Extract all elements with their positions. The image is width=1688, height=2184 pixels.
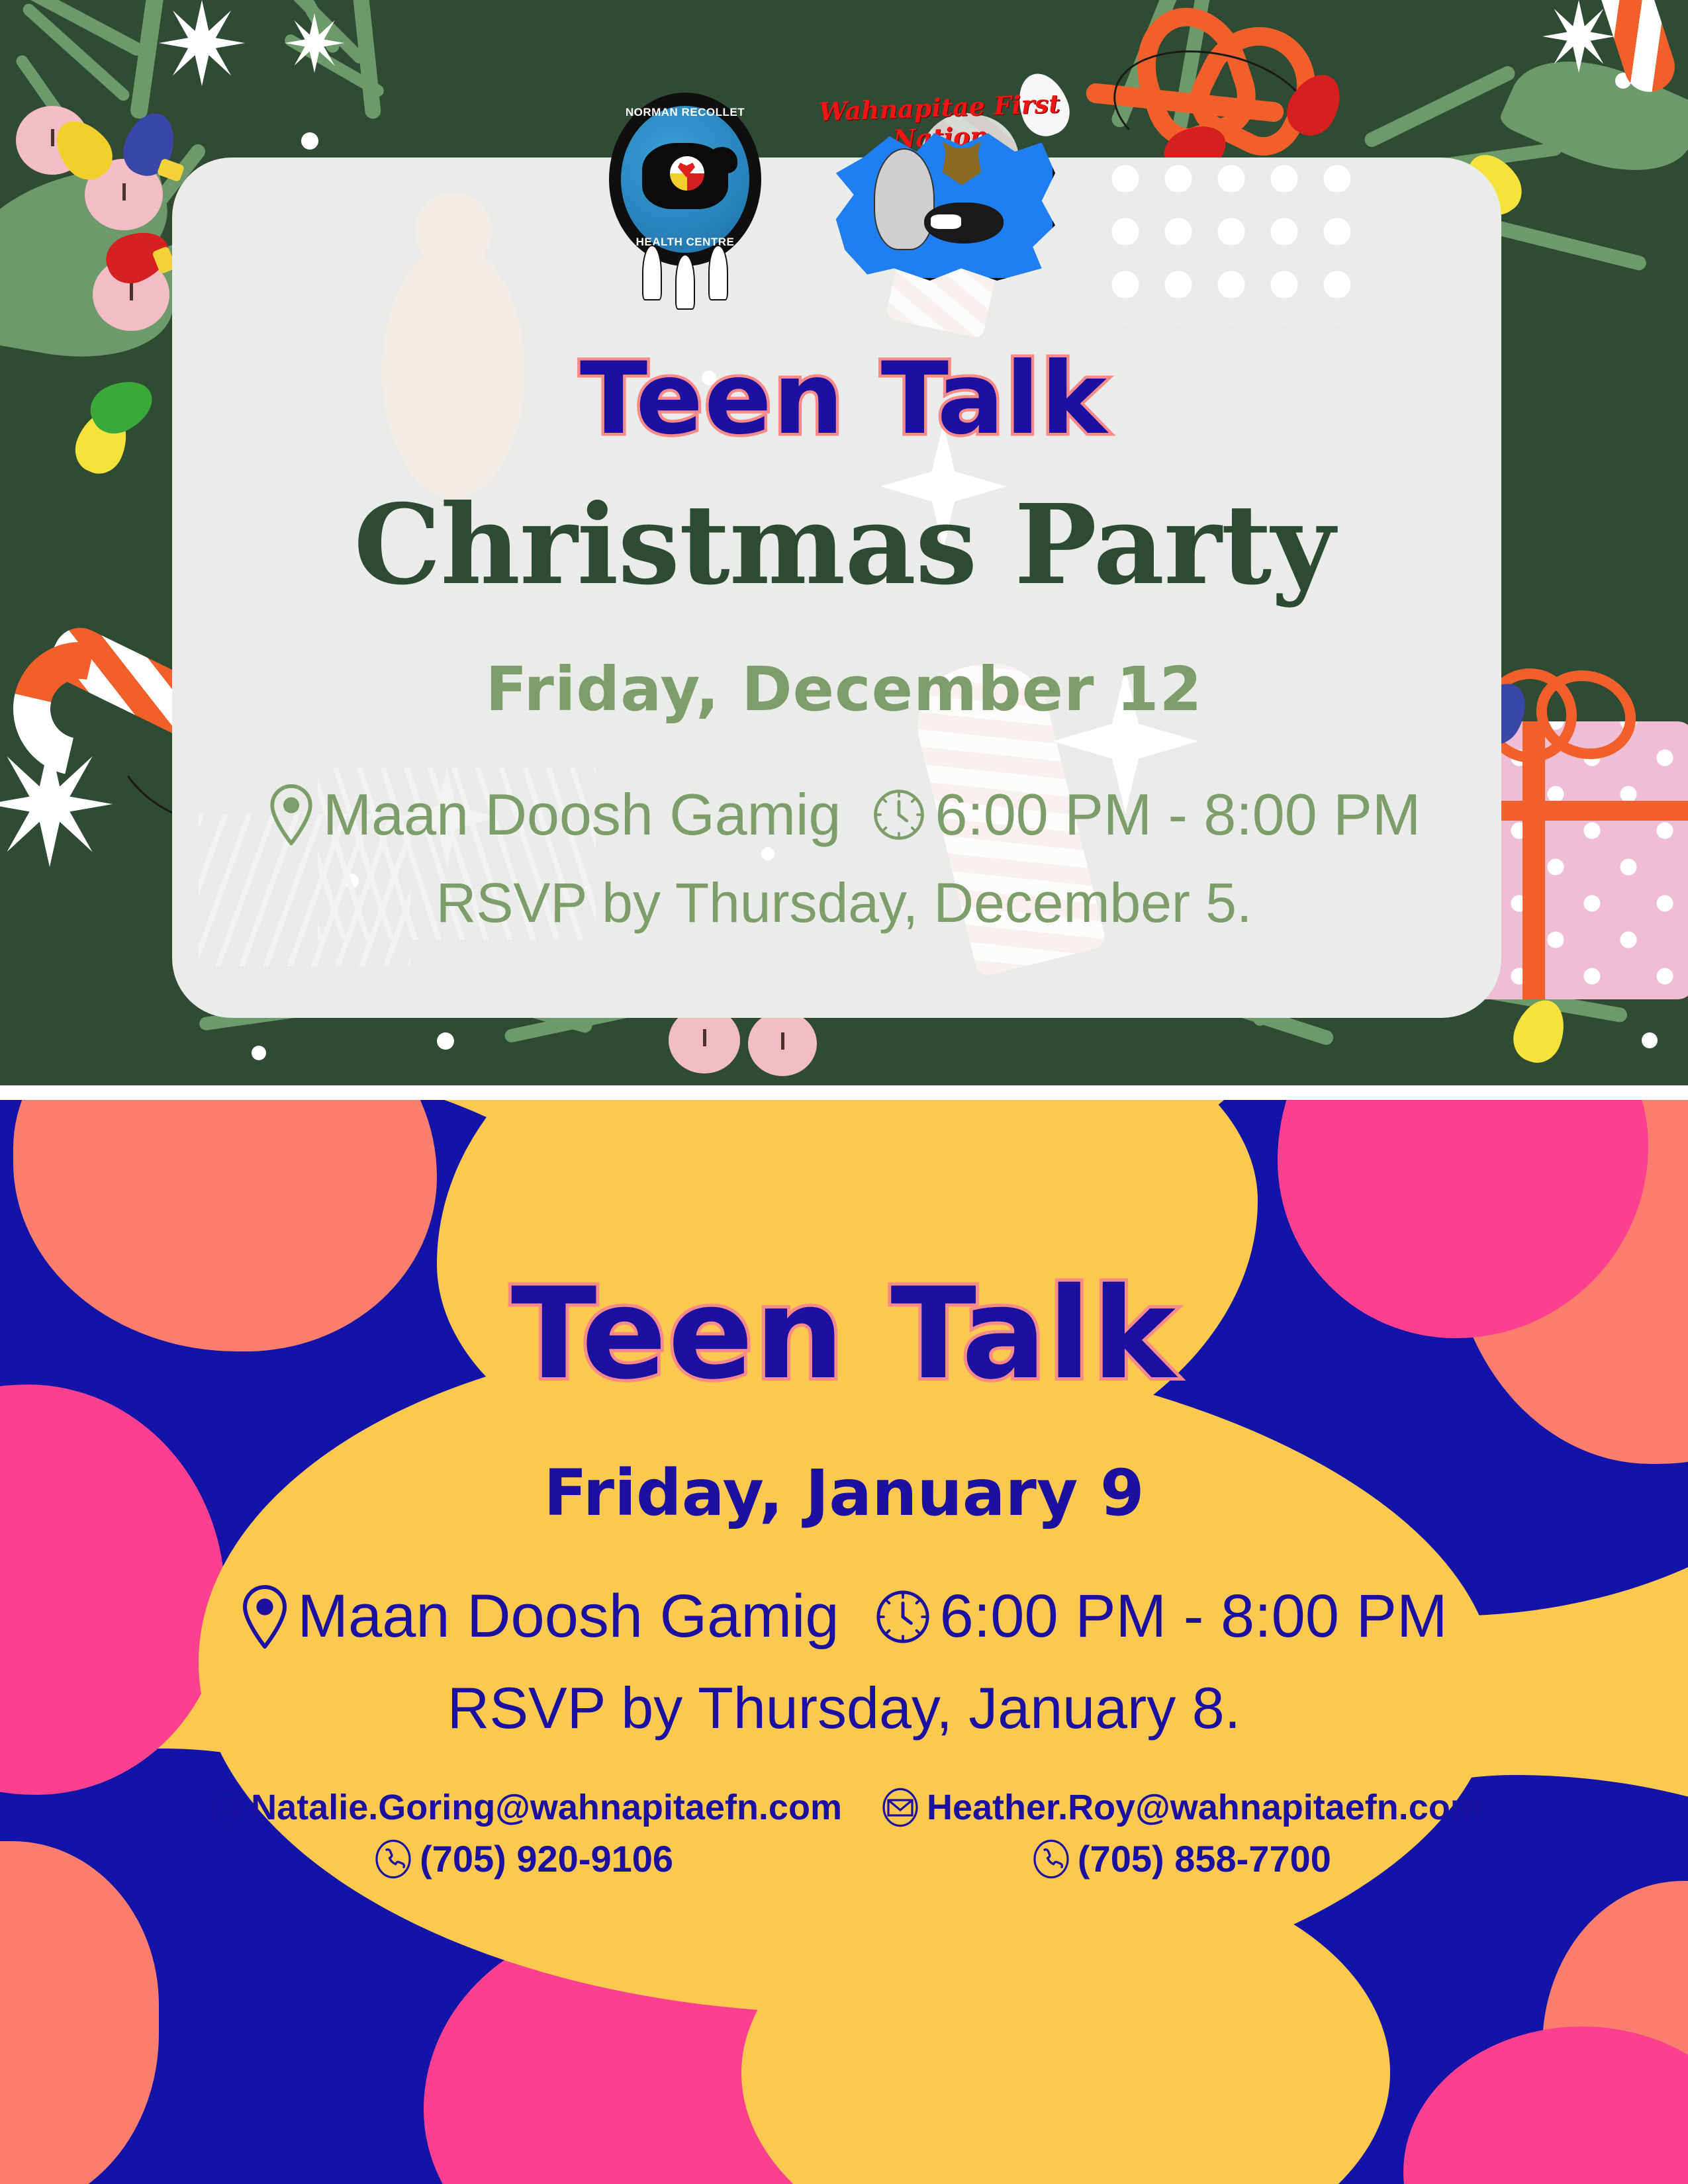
christmas-date: Friday, December 12 [0, 654, 1688, 725]
snow-dot [437, 1032, 454, 1050]
feather-icon [642, 245, 662, 300]
january-location-text: Maan Doosh Gamig [297, 1582, 839, 1651]
contact-natalie: Natalie.Goring@wahnapitaefn.com (705) 92… [206, 1787, 842, 1880]
contact-phone-text: (705) 858-7700 [1078, 1837, 1331, 1880]
contact-email-line[interactable]: Heather.Roy@wahnapitaefn.com [882, 1787, 1482, 1828]
january-time-text: 6:00 PM - 8:00 PM [940, 1582, 1448, 1651]
phone-icon [375, 1839, 412, 1879]
feather-icon [675, 254, 695, 310]
clock-icon [874, 1588, 932, 1646]
logo-text-top: NORMAN RECOLLET [609, 106, 761, 119]
contact-email-text: Natalie.Goring@wahnapitaefn.com [251, 1787, 842, 1828]
january-date: Friday, January 9 [0, 1456, 1688, 1530]
snow-dot [761, 847, 774, 860]
christmas-time: 6:00 PM - 8:00 PM [871, 781, 1421, 848]
christmas-time-text: 6:00 PM - 8:00 PM [935, 781, 1421, 848]
snow-dot [252, 1046, 266, 1060]
berry [748, 1011, 817, 1076]
phone-icon [1033, 1839, 1070, 1879]
wahnapitae-first-nation-logo: Wahnapitae First Nation [801, 93, 1079, 285]
logo-row: NORMAN RECOLLET HEALTH CENTRE Wahnapitae… [0, 93, 1688, 291]
january-location: Maan Doosh Gamig [240, 1582, 839, 1651]
christmas-location: Maan Doosh Gamig [267, 781, 841, 848]
poster: NORMAN RECOLLET HEALTH CENTRE Wahnapitae… [0, 0, 1688, 2184]
january-title: Teen Talk [0, 1261, 1688, 1407]
contact-phone-line[interactable]: (705) 920-9106 [375, 1837, 673, 1880]
christmas-venue-time-row: Maan Doosh Gamig 6:00 PM - 8:00 PM [0, 781, 1688, 848]
clock-icon [871, 787, 927, 842]
mail-icon [882, 1788, 919, 1827]
norman-recollet-health-centre-logo: NORMAN RECOLLET HEALTH CENTRE [609, 93, 761, 291]
christmas-rsvp: RSVP by Thursday, December 5. [0, 871, 1688, 935]
contact-email-line[interactable]: Natalie.Goring@wahnapitaefn.com [206, 1787, 842, 1828]
contact-email-text: Heather.Roy@wahnapitaefn.com [927, 1787, 1482, 1828]
contact-heather: Heather.Roy@wahnapitaefn.com (705) 858-7… [882, 1787, 1482, 1880]
location-pin-icon [240, 1585, 289, 1649]
january-time: 6:00 PM - 8:00 PM [874, 1582, 1448, 1651]
panel-divider [0, 1085, 1688, 1100]
contact-phone-line[interactable]: (705) 858-7700 [1033, 1837, 1331, 1880]
snow-dot [1642, 1032, 1658, 1048]
heron-icon [874, 148, 935, 250]
feather-icon [708, 245, 728, 300]
logo-text-bottom: HEALTH CENTRE [609, 236, 761, 249]
christmas-subtitle: Christmas Party [0, 480, 1688, 610]
loon-icon [924, 203, 1004, 244]
christmas-title: Teen Talk [0, 341, 1688, 457]
contact-row: Natalie.Goring@wahnapitaefn.com (705) 92… [0, 1787, 1688, 1880]
christmas-location-text: Maan Doosh Gamig [323, 781, 841, 848]
mail-icon [206, 1788, 243, 1827]
location-pin-icon [267, 784, 315, 845]
snowflake-icon [159, 0, 245, 86]
contact-phone-text: (705) 920-9106 [420, 1837, 673, 1880]
january-rsvp: RSVP by Thursday, January 8. [0, 1674, 1688, 1742]
january-venue-time-row: Maan Doosh Gamig 6:00 PM - 8:00 PM [0, 1582, 1688, 1651]
